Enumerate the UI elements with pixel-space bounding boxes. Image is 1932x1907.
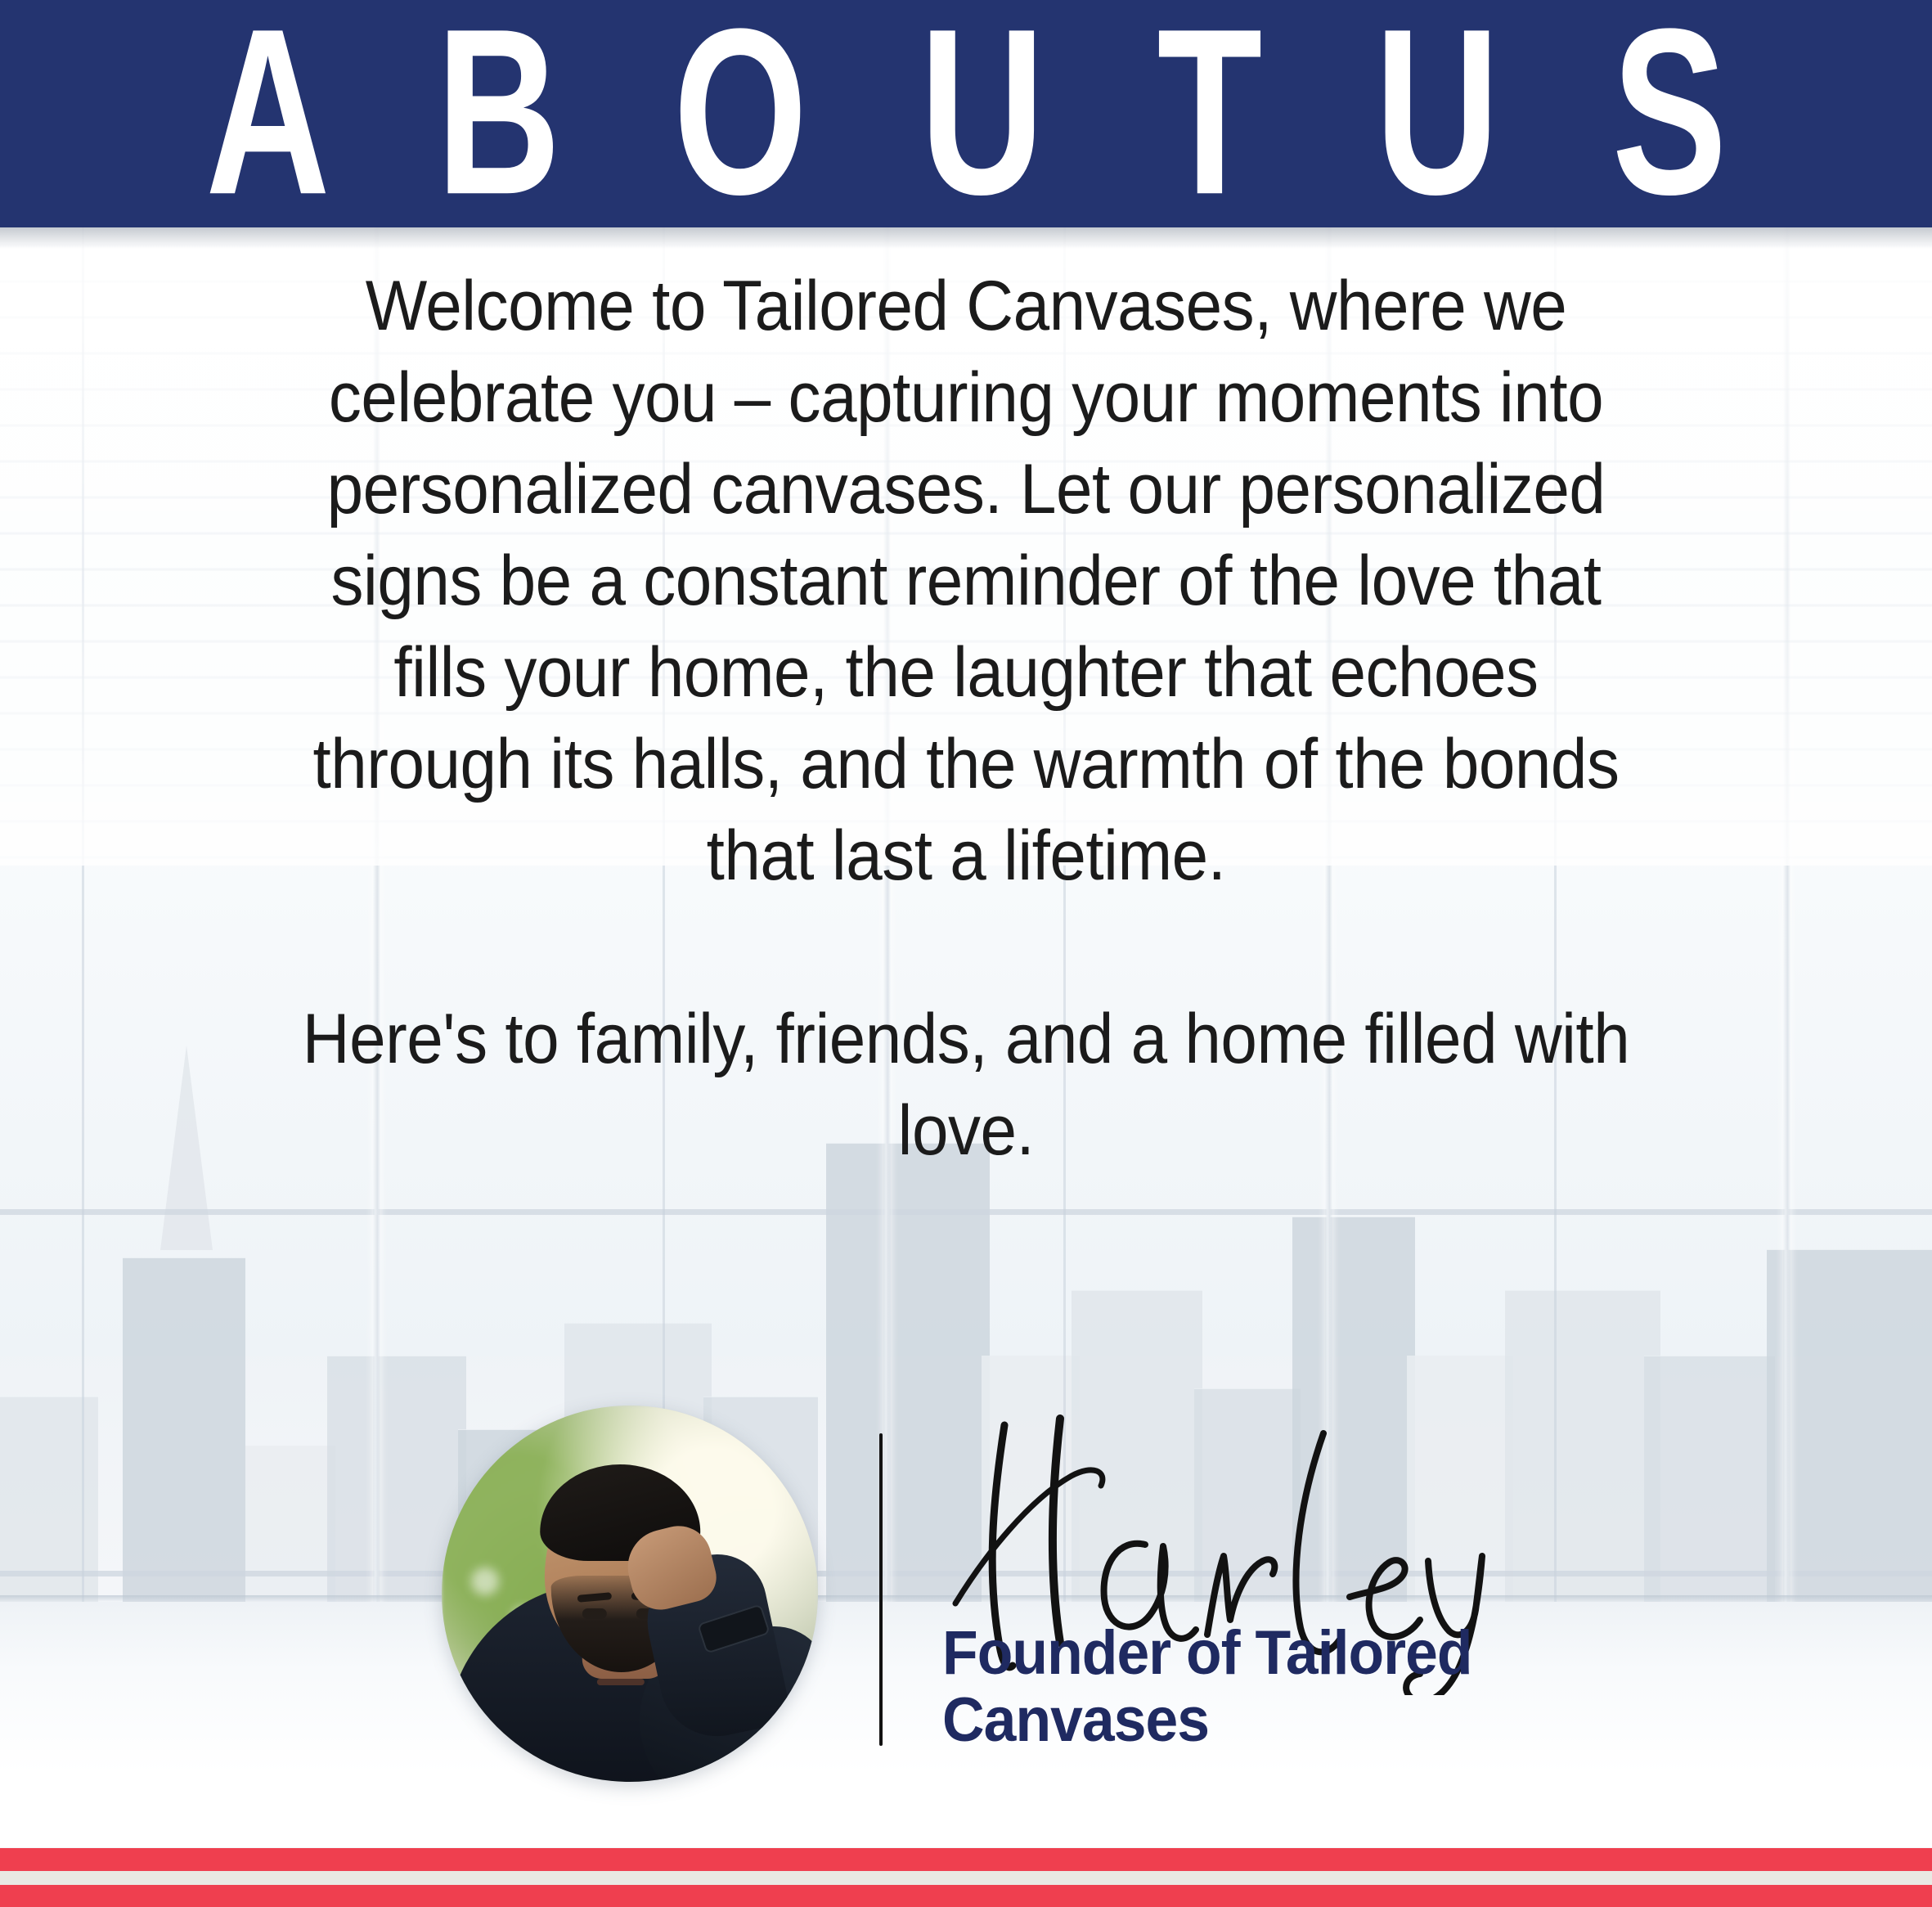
about-paragraph-2: Here's to family, friends, and a home fi… [285, 993, 1647, 1176]
footer-stripe-bottom [0, 1885, 1932, 1907]
avatar [442, 1406, 818, 1782]
pyramid-tower-icon [160, 1046, 213, 1250]
page-title: A B O U T U S [173, 0, 1759, 230]
about-us-poster: A B O U T U S Welcome to Tailored Canvas… [0, 0, 1932, 1907]
header-band: A B O U T U S [0, 0, 1932, 227]
signature-role: Founder of Tailored Canvases [942, 1620, 1472, 1754]
about-paragraph-1: Welcome to Tailored Canvases, where we c… [285, 260, 1647, 902]
about-copy: Welcome to Tailored Canvases, where we c… [234, 260, 1698, 1176]
window-transom [0, 1209, 1932, 1215]
paragraph-spacer [234, 902, 1698, 993]
signature-divider [879, 1433, 883, 1746]
signature-block: Founder of Tailored Canvases [908, 1401, 1530, 1752]
footer-stripe-gap [0, 1871, 1932, 1885]
header-drop-shadow [0, 227, 1932, 249]
footer-stripe-top [0, 1848, 1932, 1871]
